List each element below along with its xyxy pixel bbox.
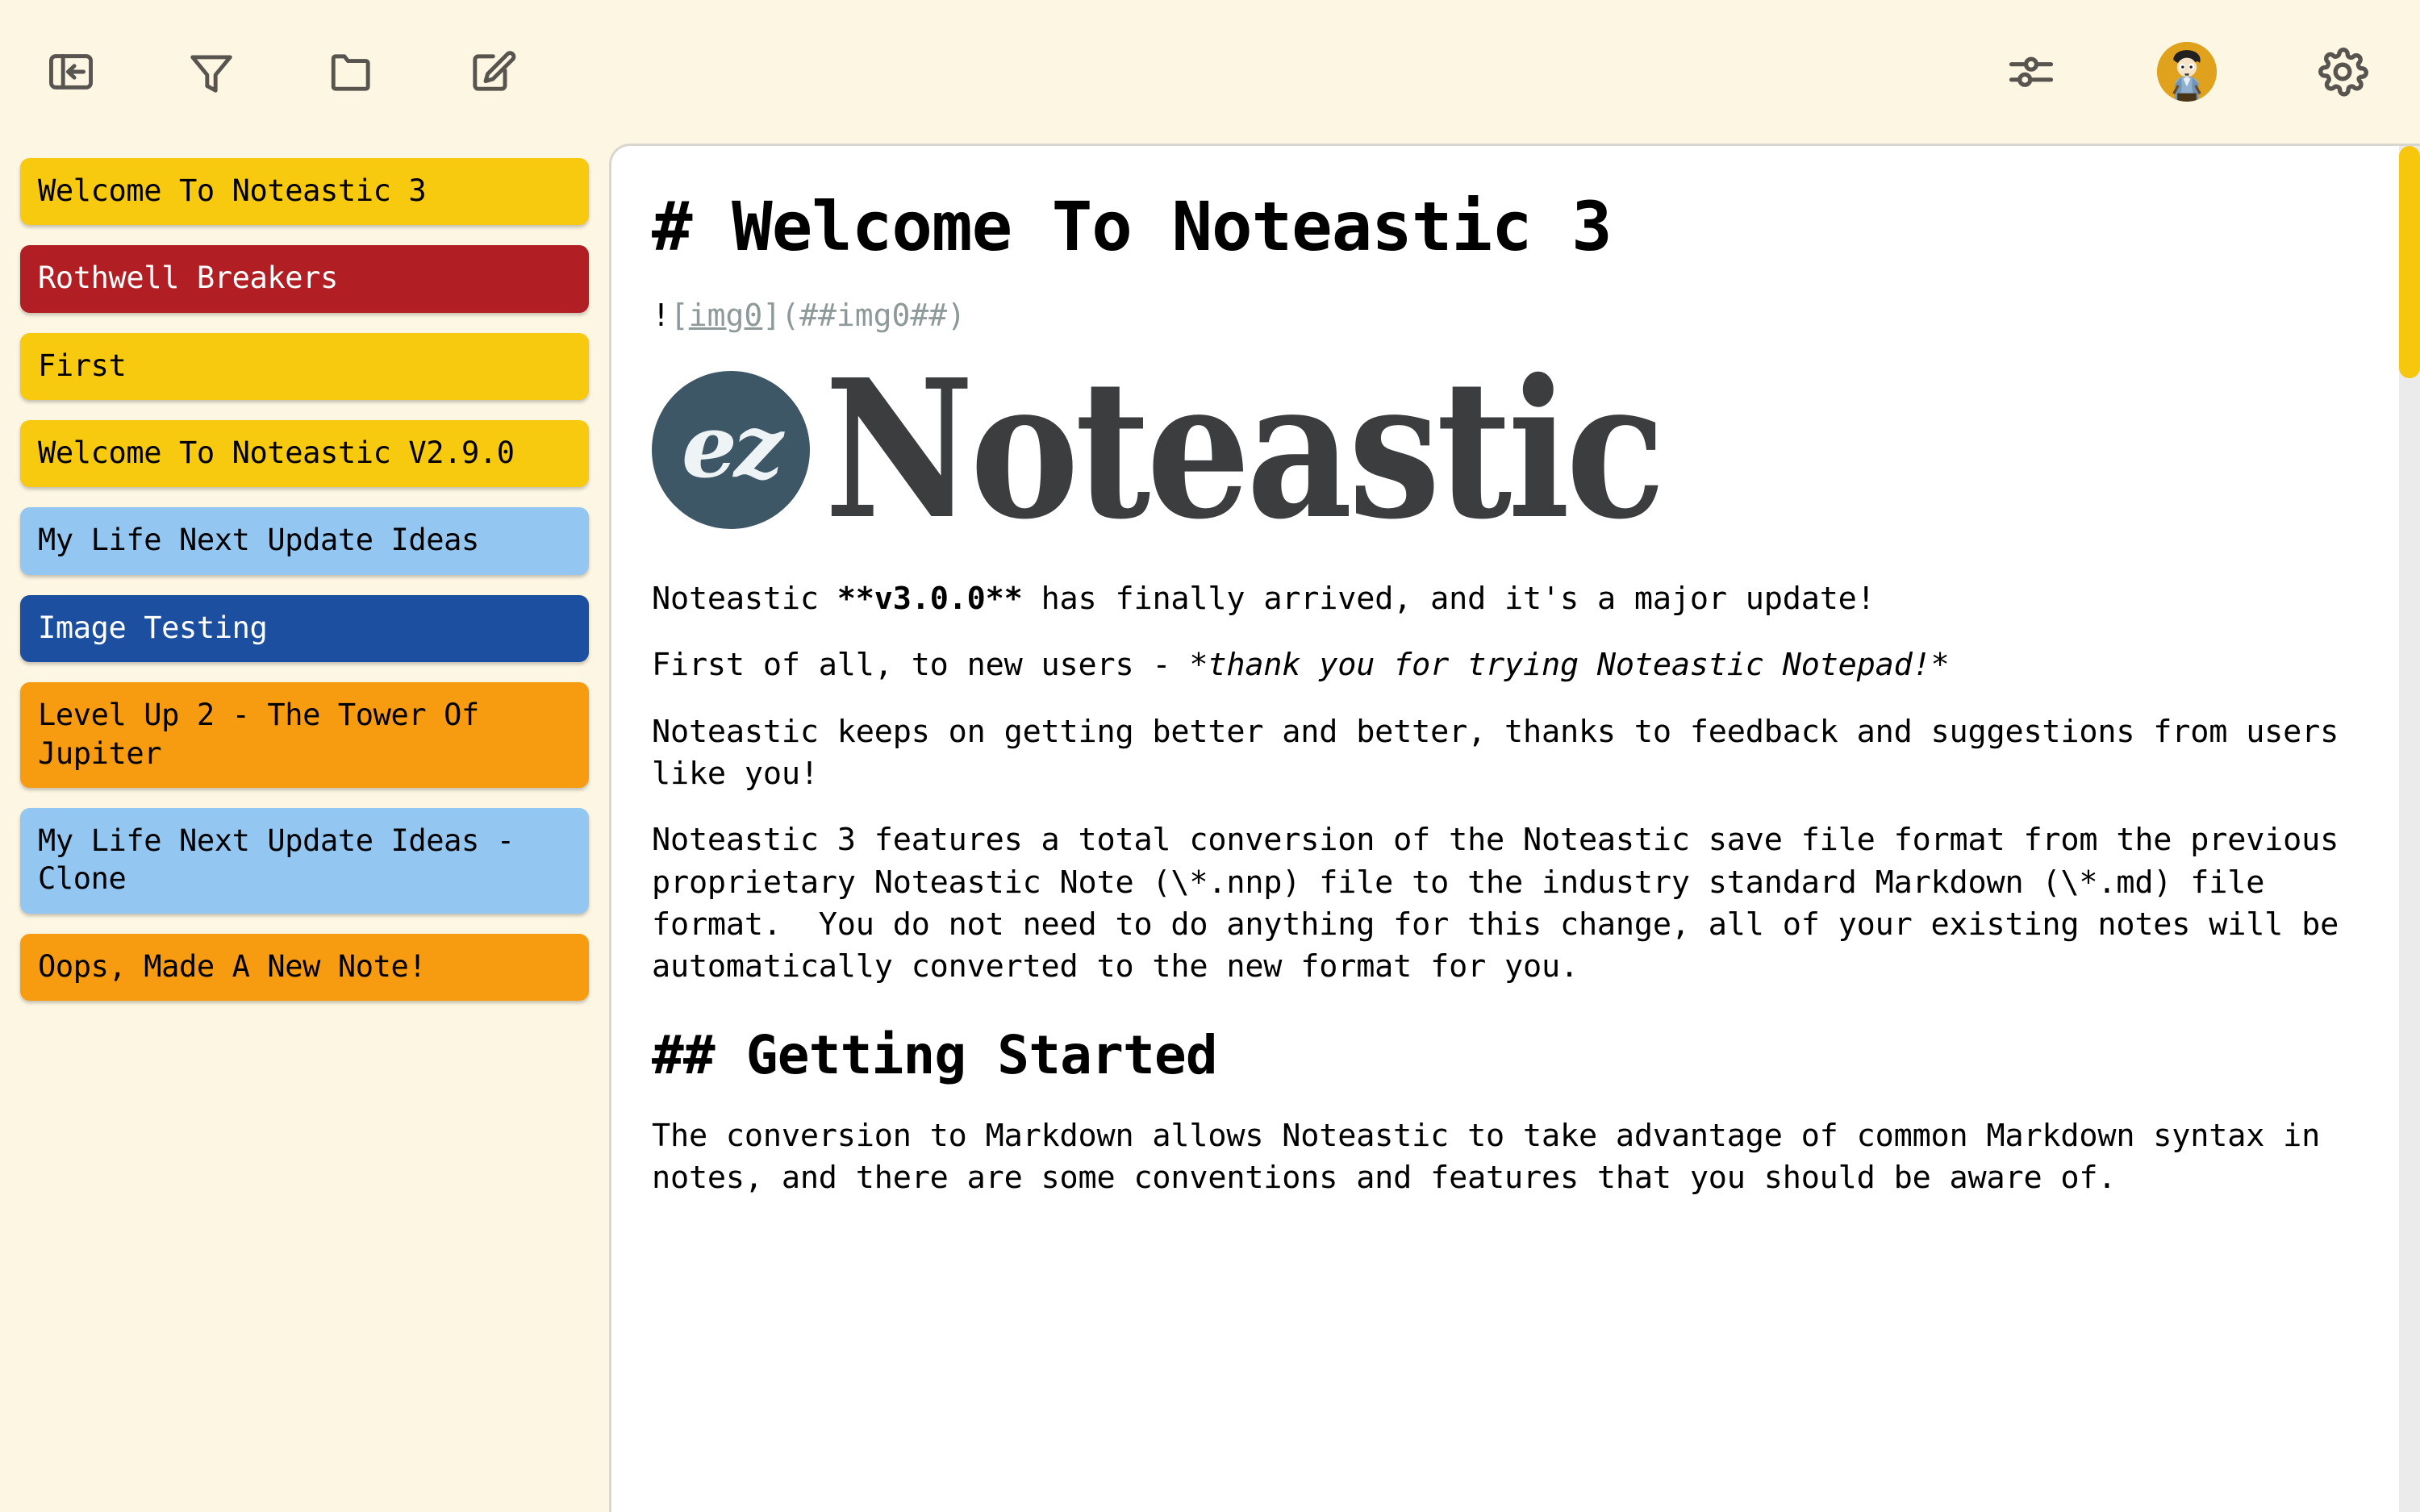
bracket-close: ] [762,298,781,333]
sliders-icon [2006,47,2056,97]
embedded-image-noteastic-logo[interactable]: ez Noteastic [652,349,2364,551]
paragraph-group-intro: Noteastic **v3.0.0** has finally arrived… [652,578,2364,989]
toolbar-right-group [1992,0,2381,144]
paragraph-segment: **v3.0.0** [837,581,1023,617]
note-list-item[interactable]: My Life Next Update Ideas [20,507,589,574]
ez-badge-text: ez [682,396,780,498]
document-paragraph: Noteastic keeps on getting better and be… [652,711,2364,796]
top-toolbar [0,0,2420,144]
paragraph-segment: Noteastic keeps on getting better and be… [652,714,2357,792]
settings-button[interactable] [2304,33,2381,110]
document-vertical-scrollbar[interactable] [2392,146,2420,1512]
paragraph-segment: Noteastic [652,581,837,617]
view-options-button[interactable] [1992,33,2070,110]
logo-wordmark: Noteastic [824,362,1662,537]
open-folder-button[interactable] [313,33,390,110]
document-paragraph: First of all, to new users - *thank you … [652,644,2364,686]
image-markdown-line: ![img0](##img0##) [652,298,2364,335]
new-note-button[interactable] [453,33,531,110]
panel-collapse-left-icon [46,47,96,97]
image-markdown-label: img0 [689,298,763,333]
filter-funnel-icon [186,47,236,97]
avatar-icon [2157,42,2217,102]
note-list-sidebar[interactable]: Welcome To Noteastic 3Rothwell BreakersF… [0,144,609,1512]
note-list-item[interactable]: My Life Next Update Ideas - Clone [20,808,589,914]
filter-notes-button[interactable] [173,33,250,110]
document-paragraph: Noteastic **v3.0.0** has finally arrived… [652,578,2364,620]
paragraph-segment: First of all, to new users - [652,647,1189,683]
note-list-item[interactable]: First [20,333,589,400]
paragraph-segment: *thank you for trying Noteastic Notepad!… [1189,647,1949,683]
paragraph-segment: has finally arrived, and it's a major up… [1023,581,1875,617]
note-editor-panel: # Welcome To Noteastic 3 ![img0](##img0#… [609,144,2420,1512]
ez-badge-icon: ez [652,371,810,529]
folder-icon [327,47,377,97]
noteastic-app-window: Welcome To Noteastic 3Rothwell BreakersF… [0,0,2420,1512]
toolbar-left-group [32,0,531,144]
document-heading-2: ## Getting Started [652,1027,2364,1083]
paragraph-segment: The conversion to Markdown allows Noteas… [652,1118,2339,1196]
note-list-item[interactable]: Welcome To Noteastic V2.9.0 [20,420,589,487]
note-list-item[interactable]: Oops, Made A New Note! [20,934,589,1001]
bracket-open: [ [670,298,689,333]
document-paragraph: The conversion to Markdown allows Noteas… [652,1115,2364,1200]
markdown-document[interactable]: # Welcome To Noteastic 3 ![img0](##img0#… [611,146,2394,1512]
image-markdown-link[interactable]: [img0] [670,298,781,333]
user-profile-avatar[interactable] [2157,42,2217,102]
image-markdown-bang: ! [652,298,670,333]
note-edit-pencil-icon [467,47,517,97]
note-list-item[interactable]: Level Up 2 - The Tower Of Jupiter [20,682,589,788]
paragraph-segment: Noteastic 3 features a total conversion … [652,822,2357,985]
collapse-sidebar-button[interactable] [32,33,110,110]
document-heading-1: # Welcome To Noteastic 3 [652,191,2364,262]
paragraph-group-getting-started: The conversion to Markdown allows Noteas… [652,1115,2364,1200]
logo-group: ez Noteastic [652,362,1797,537]
note-list-item[interactable]: Rothwell Breakers [20,245,589,312]
image-markdown-target: (##img0##) [781,298,966,333]
note-list-item[interactable]: Image Testing [20,595,589,662]
scrollbar-thumb[interactable] [2399,146,2420,378]
gear-icon [2315,44,2370,99]
document-paragraph: Noteastic 3 features a total conversion … [652,819,2364,988]
note-list-item[interactable]: Welcome To Noteastic 3 [20,158,589,225]
